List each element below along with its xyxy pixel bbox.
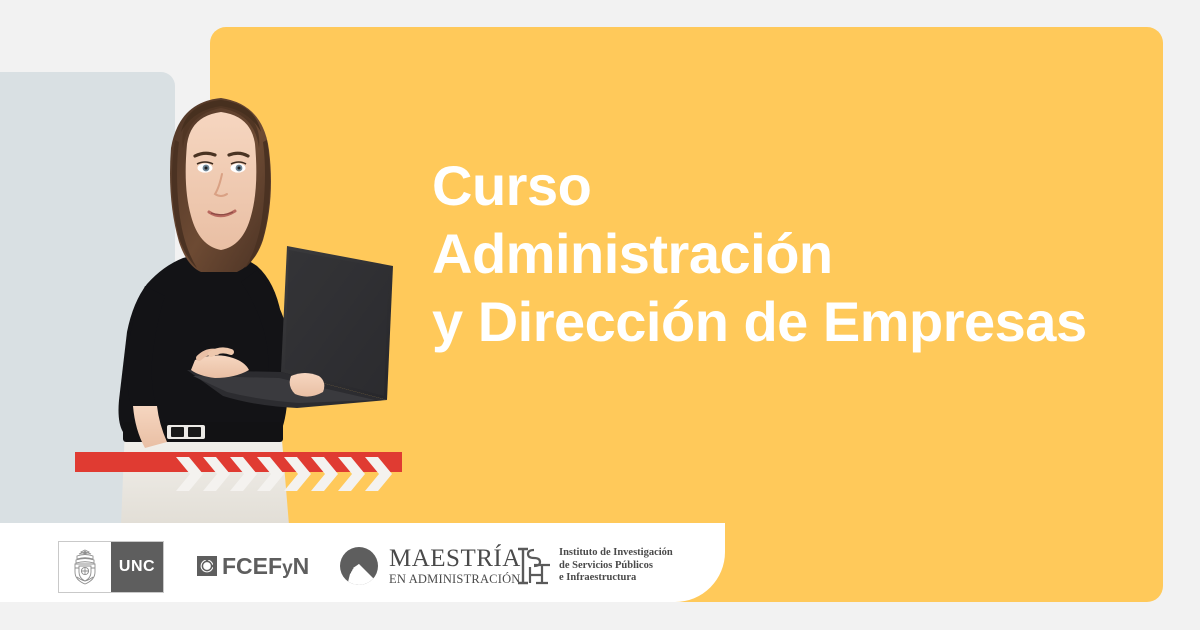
page-title: Curso Administración y Dirección de Empr… xyxy=(432,152,1132,356)
title-line-2: Administración xyxy=(432,220,1132,288)
logo-ispi: Instituto de Investigación de Servicios … xyxy=(516,545,673,587)
logo-maestria-line-1: MAESTRÍA xyxy=(389,546,521,571)
title-line-1: Curso xyxy=(432,152,1132,220)
ispi-monogram-icon xyxy=(516,546,552,586)
unc-coat-of-arms-icon xyxy=(59,542,111,592)
logo-unc-label: UNC xyxy=(111,542,163,592)
title-line-3: y Dirección de Empresas xyxy=(432,288,1132,356)
logo-ispi-line-1: Instituto de Investigación xyxy=(559,547,673,560)
fcefyn-gear-square-icon xyxy=(196,555,218,577)
logo-unc: UNC xyxy=(58,541,164,593)
maestria-circle-rays-icon xyxy=(339,546,383,586)
fcefyn-label-sub: y xyxy=(282,558,293,579)
fcefyn-label-main: FCEF xyxy=(222,553,282,579)
chevron-arrows-icon xyxy=(176,455,406,493)
logo-ispi-line-2: de Servicios Públicos xyxy=(559,560,673,573)
logo-fcefyn-label: FCEFyN xyxy=(222,553,309,580)
logo-maestria: MAESTRÍA EN ADMINISTRACIÓN xyxy=(339,545,521,587)
logo-maestria-line-2: EN ADMINISTRACIÓN xyxy=(389,573,521,586)
fcefyn-label-end: N xyxy=(293,553,310,579)
logo-fcefyn: FCEFyN xyxy=(196,552,309,580)
logo-ispi-line-3: e Infraestructura xyxy=(559,572,673,585)
banner-canvas: Curso Administración y Dirección de Empr… xyxy=(0,0,1200,630)
